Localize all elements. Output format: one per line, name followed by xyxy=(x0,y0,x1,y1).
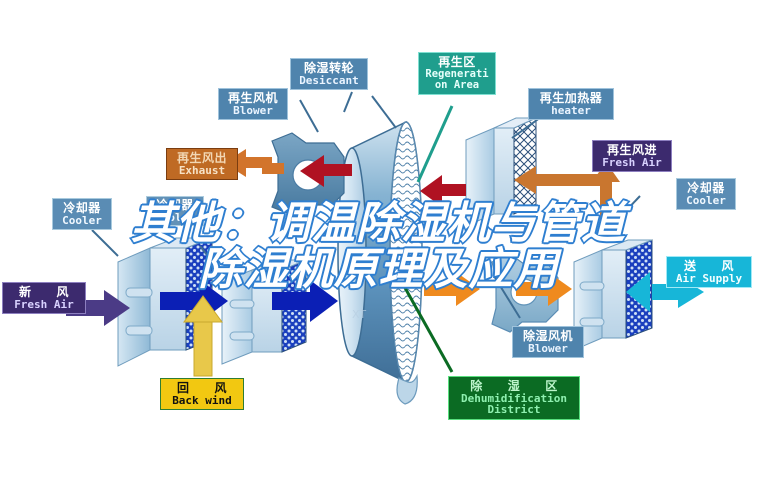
label-cooler-left-inner[interactable]: 冷却器 Cooler xyxy=(146,196,204,226)
label-regeneration-area-en2: on Area xyxy=(421,80,493,91)
label-cooler-left-inner-en: Cooler xyxy=(149,212,201,224)
label-cooler-right-cn: 冷却器 xyxy=(679,182,733,195)
label-dehumidification-district-cn: 除 湿 区 xyxy=(451,380,577,393)
desiccant-rotor: XT xyxy=(338,122,422,382)
label-back-wind-en: Back wind xyxy=(163,395,241,407)
label-back-wind-cn: 回 风 xyxy=(163,382,241,395)
label-dehumidification-blower-en: Blower xyxy=(515,343,581,355)
label-air-supply-en: Air Supply xyxy=(669,273,749,285)
label-exhaust-cn: 再生风出 xyxy=(169,152,235,165)
schematic-svg: XT xyxy=(0,0,757,488)
label-air-supply-cn: 送 风 xyxy=(669,260,749,273)
svg-text:XT: XT xyxy=(352,308,366,321)
heater-coil xyxy=(466,118,536,226)
label-fresh-air-inlet-en: Fresh Air xyxy=(5,299,83,311)
label-dehumidification-blower-cn: 除湿风机 xyxy=(515,330,581,343)
label-regeneration-air-inlet[interactable]: 再生风进 Fresh Air xyxy=(592,140,672,172)
label-regeneration-heater-cn: 再生加热器 xyxy=(531,92,611,105)
label-cooler-left-outer-en: Cooler xyxy=(55,215,109,227)
label-desiccant-wheel-en: Desiccant xyxy=(293,75,365,87)
label-exhaust-en: Exhaust xyxy=(169,165,235,177)
label-back-wind[interactable]: 回 风 Back wind xyxy=(160,378,244,410)
label-regeneration-air-inlet-en: Fresh Air xyxy=(595,157,669,169)
label-regeneration-area-cn: 再生区 xyxy=(421,56,493,69)
label-dehumidification-district-en2: District xyxy=(451,404,577,416)
label-dehumidification-blower[interactable]: 除湿风机 Blower xyxy=(512,326,584,358)
label-exhaust[interactable]: 再生风出 Exhaust xyxy=(166,148,238,180)
label-dehumidification-district[interactable]: 除 湿 区 Dehumidification District xyxy=(448,376,580,420)
label-air-supply[interactable]: 送 风 Air Supply xyxy=(666,256,752,288)
label-regeneration-heater[interactable]: 再生加热器 heater xyxy=(528,88,614,120)
label-regeneration-heater-en: heater xyxy=(531,105,611,117)
dehum-out-arrow-1 xyxy=(424,272,480,306)
label-fresh-air-inlet-cn: 新 风 xyxy=(5,286,83,299)
label-regeneration-area[interactable]: 再生区 Regenerati on Area xyxy=(418,52,496,95)
label-regeneration-blower[interactable]: 再生风机 Blower xyxy=(218,88,288,120)
leader-line-regen xyxy=(418,106,452,182)
label-regeneration-blower-en: Blower xyxy=(221,105,285,117)
label-desiccant-wheel[interactable]: 除湿转轮 Desiccant xyxy=(290,58,368,90)
cooler-coil-2 xyxy=(222,260,306,364)
label-cooler-left-outer-cn: 冷却器 xyxy=(55,202,109,215)
label-cooler-right-en: Cooler xyxy=(679,195,733,207)
label-cooler-left-inner-cn: 冷却器 xyxy=(149,199,201,212)
label-cooler-right[interactable]: 冷却器 Cooler xyxy=(676,178,736,210)
diagram-canvas: XT xyxy=(0,0,757,488)
label-cooler-left-outer[interactable]: 冷却器 Cooler xyxy=(52,198,112,230)
regen-through-wheel-arrow xyxy=(420,175,466,207)
label-fresh-air-inlet[interactable]: 新 风 Fresh Air xyxy=(2,282,86,314)
label-regeneration-air-inlet-cn: 再生风进 xyxy=(595,144,669,157)
label-desiccant-wheel-cn: 除湿转轮 xyxy=(293,62,365,75)
label-regeneration-blower-cn: 再生风机 xyxy=(221,92,285,105)
